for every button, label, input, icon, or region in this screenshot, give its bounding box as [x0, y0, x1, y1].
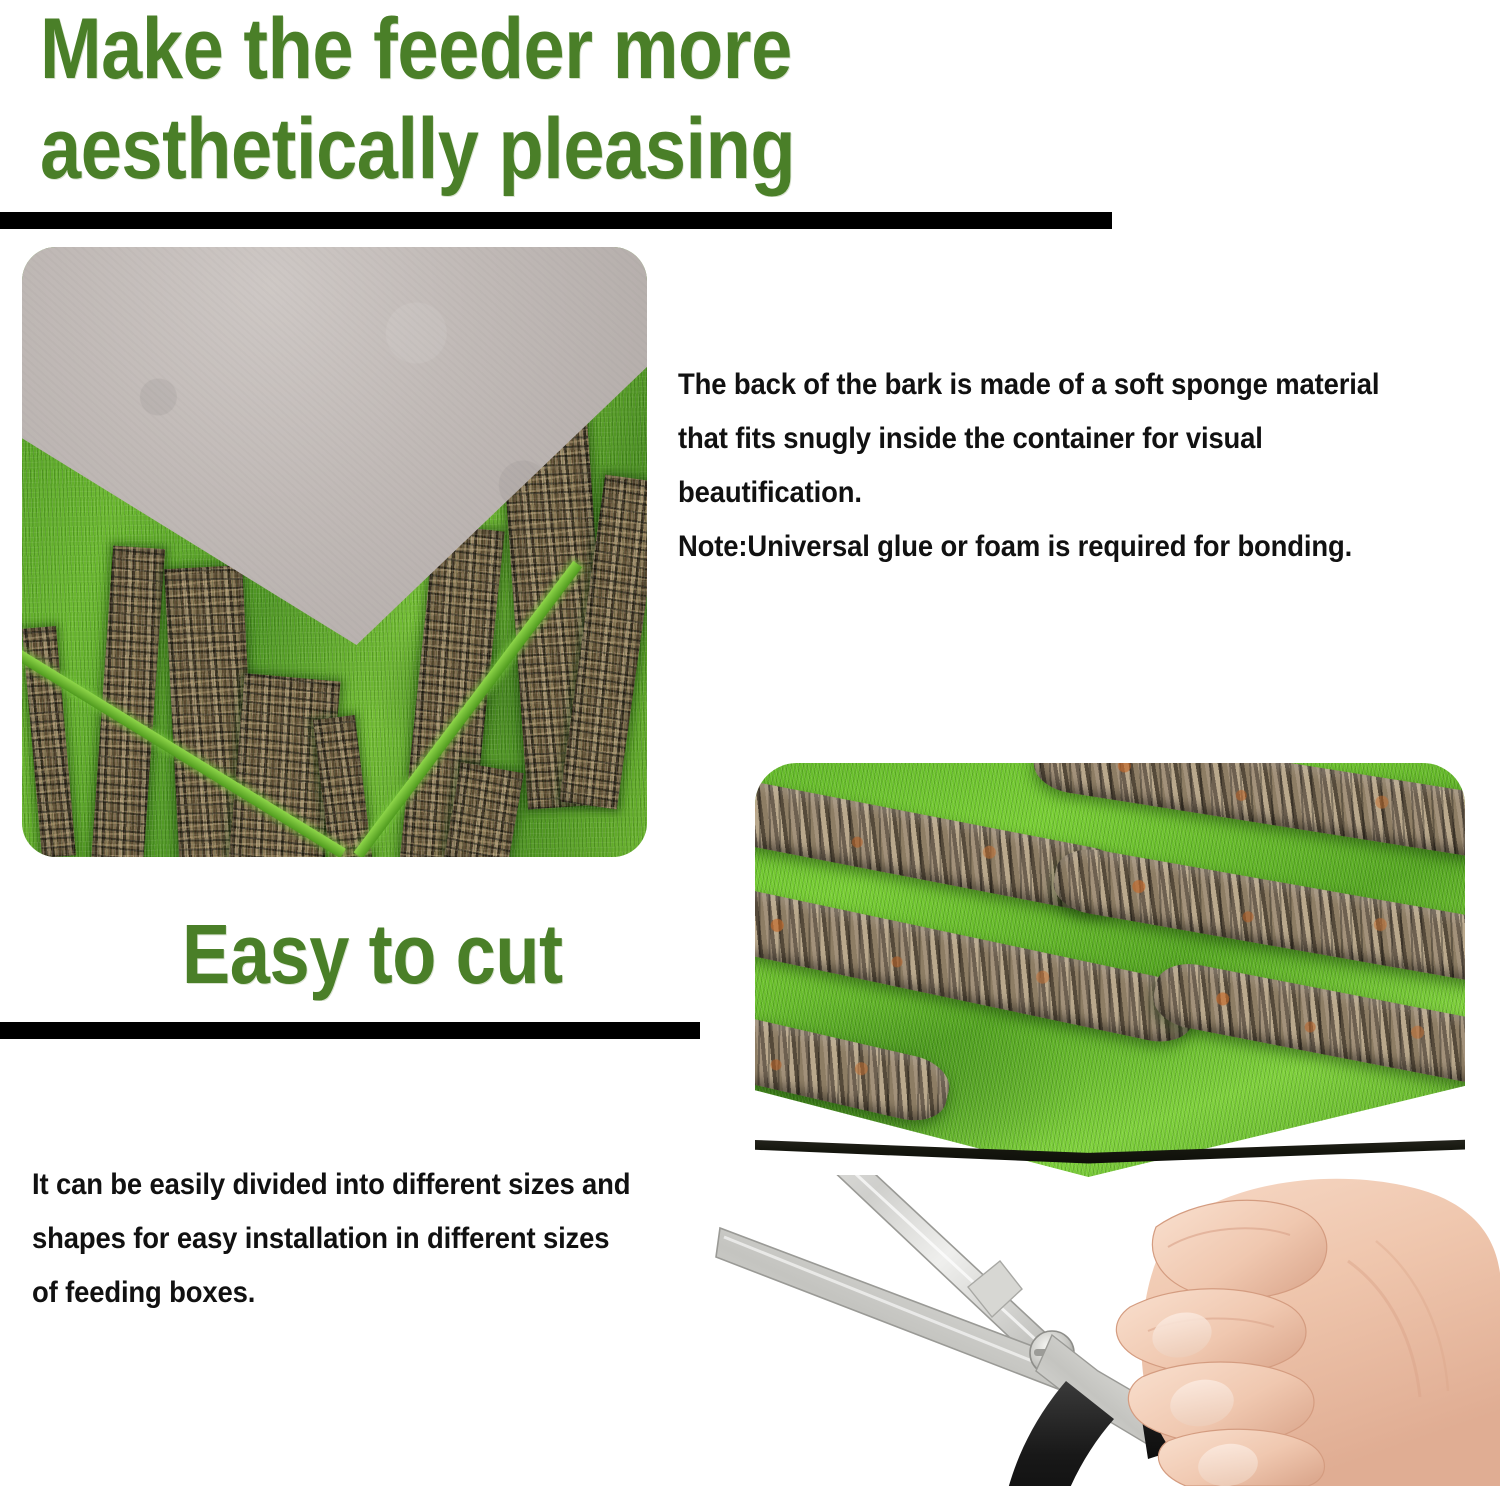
hand-little-finger — [1158, 1429, 1324, 1486]
description-line: The back of the bark is made of a soft s… — [678, 358, 1379, 412]
description-line: of feeding boxes. — [32, 1266, 630, 1320]
description-note: Note:Universal glue or foam is required … — [678, 520, 1379, 574]
description-line: shapes for easy installation in differen… — [32, 1212, 630, 1266]
fingernail — [1166, 1375, 1237, 1431]
infographic-page: Make the feeder more aesthetically pleas… — [0, 0, 1500, 1486]
page-title: Make the feeder more aesthetically pleas… — [40, 6, 795, 192]
description-line: that fits snugly inside the container fo… — [678, 412, 1379, 466]
scissors-bottom-handle — [930, 1381, 1114, 1486]
page-title-line-2: aesthetically pleasing — [40, 106, 795, 192]
description-easy-to-cut: It can be easily divided into different … — [32, 1158, 630, 1320]
description-line: It can be easily divided into different … — [32, 1158, 630, 1212]
description-line: beautification. — [678, 466, 1379, 520]
page-title-line-1: Make the feeder more — [40, 6, 795, 92]
photo-cutting-frame — [755, 763, 1465, 1383]
divider-rule-bottom — [0, 1022, 700, 1039]
moss-mat — [755, 763, 1465, 1177]
scissors-top-handle — [1140, 1375, 1443, 1486]
photo-cutting-demo: Hand using scissors to cut the moss and … — [755, 763, 1465, 1383]
divider-rule-top — [0, 212, 1112, 229]
description-sponge-back: The back of the bark is made of a soft s… — [678, 358, 1379, 574]
section-title-easy-to-cut: Easy to cut — [182, 912, 563, 996]
photo-sponge-back: Moss and bark mat folded back to reveal … — [22, 247, 647, 857]
fingernail — [1195, 1440, 1260, 1486]
